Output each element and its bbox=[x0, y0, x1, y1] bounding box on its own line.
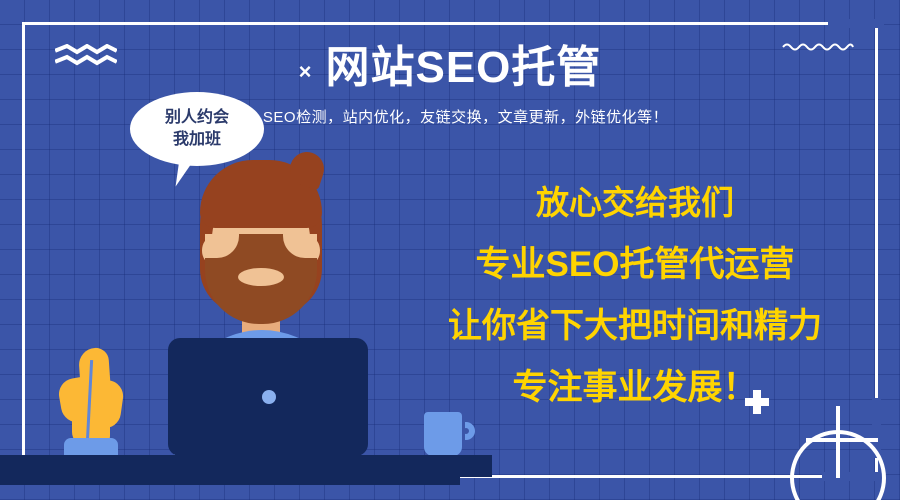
slogan-line-3: 让你省下大把时间和精力 bbox=[400, 309, 870, 343]
desk-icon bbox=[0, 455, 492, 477]
close-icon: × bbox=[299, 61, 312, 83]
mouth bbox=[238, 268, 284, 286]
slogan-line-4: 专注事业发展！ bbox=[400, 370, 870, 405]
slogan-line-1: 放心交给我们 bbox=[400, 186, 870, 219]
speech-bubble-line-2: 我加班 bbox=[173, 129, 221, 151]
slogan-line-2: 专业SEO托管代运营 bbox=[400, 247, 870, 282]
page-title: 网站SEO托管 bbox=[325, 44, 601, 92]
laptop-logo-dot bbox=[262, 390, 276, 404]
plant-leaf-a bbox=[78, 347, 112, 409]
seo-hosting-poster: × 网站SEO托管 含：SEO检测，站内优化，友链交换，文章更新，外链优化等！ … bbox=[0, 0, 900, 500]
frame-gap-top bbox=[828, 19, 884, 28]
slogan-list: 放心交给我们 专业SEO托管代运营 让你省下大把时间和精力 专注事业发展！ bbox=[400, 186, 870, 405]
potted-plant-icon bbox=[58, 348, 122, 458]
laptop-icon bbox=[168, 338, 368, 456]
speech-bubble-line-1: 别人约会 bbox=[165, 107, 229, 129]
mug-body bbox=[424, 412, 462, 456]
title-row: × 网站SEO托管 bbox=[0, 44, 900, 92]
coffee-mug-icon bbox=[424, 412, 476, 458]
